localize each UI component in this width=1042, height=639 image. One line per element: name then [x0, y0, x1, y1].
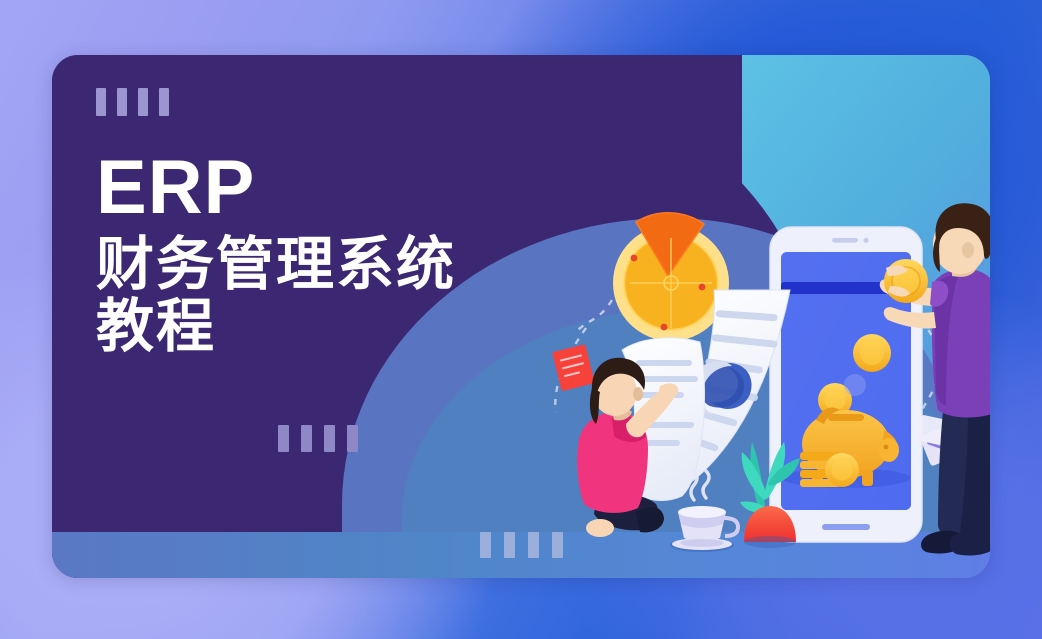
- tick-mark: [347, 425, 358, 452]
- decor-ticks-bottom: [480, 532, 563, 558]
- tick-mark: [324, 425, 335, 452]
- tick-mark: [301, 425, 312, 452]
- headline-block: ERP 财务管理系统 教程: [96, 88, 456, 358]
- tick-mark: [117, 88, 127, 116]
- brand-title: ERP: [96, 150, 456, 226]
- tick-mark: [552, 532, 563, 558]
- tick-mark: [96, 88, 106, 116]
- tick-mark: [480, 532, 491, 558]
- decor-ticks-middle: [278, 425, 358, 452]
- headline-line-1: 财务管理系统: [96, 234, 456, 296]
- poster-canvas: ERP 财务管理系统 教程: [0, 0, 1042, 639]
- tick-mark: [138, 88, 148, 116]
- tick-mark: [278, 425, 289, 452]
- headline-line-2: 教程: [96, 296, 456, 358]
- tick-mark: [159, 88, 169, 116]
- tick-mark: [528, 532, 539, 558]
- tick-mark: [504, 532, 515, 558]
- decor-ticks-top: [96, 88, 456, 116]
